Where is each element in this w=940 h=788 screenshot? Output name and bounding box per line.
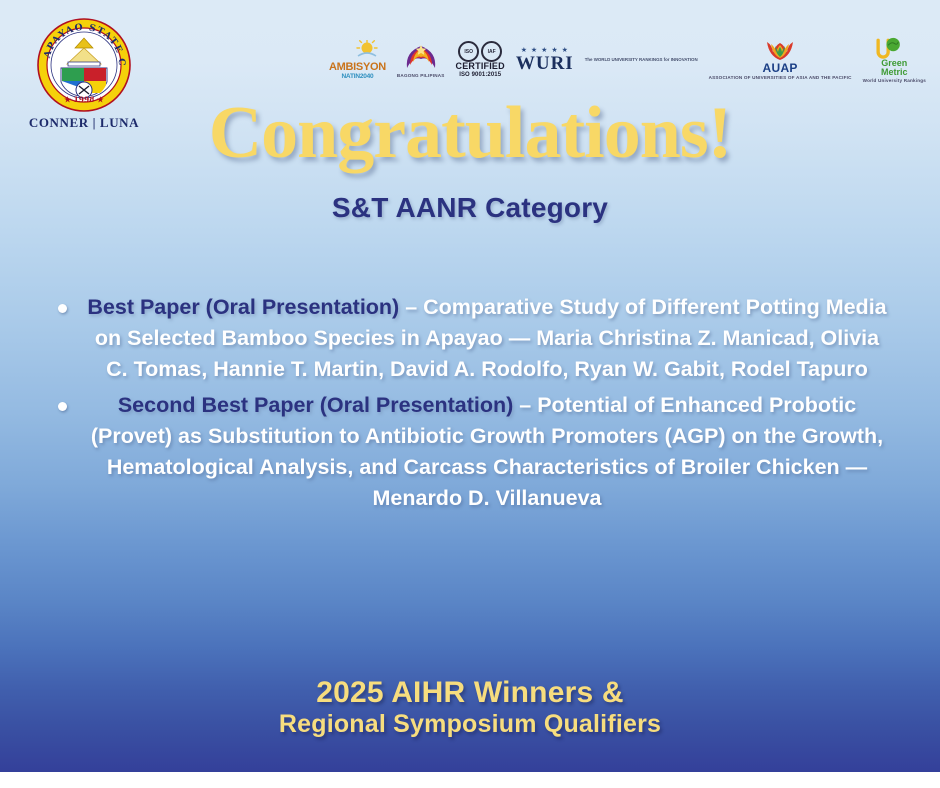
wuri-title: WURI: [516, 54, 574, 73]
award-authors: Menardo D. Villanueva: [372, 486, 601, 510]
bottom-white-band: [0, 772, 940, 788]
footer-line-1: 2025 AIHR Winners &: [0, 676, 940, 710]
greenmetric-caption: World University Rankings: [863, 78, 926, 83]
ui-greenmetric-logo: Green Metric World University Rankings: [863, 37, 926, 83]
headline-congratulations: Congratulations!: [0, 96, 940, 170]
award-text: Second Best Paper (Oral Presentation) – …: [82, 390, 892, 515]
award-entry: Second Best Paper (Oral Presentation) – …: [48, 390, 892, 515]
award-entry: Best Paper (Oral Presentation) – Compara…: [48, 292, 892, 386]
congratulations-poster: ★ 1998 ★ APAYAO STATE COLLEGE CONNER | L…: [0, 0, 940, 788]
iso-standard-label: ISO 9001:2015: [459, 72, 501, 79]
award-label: Second Best Paper (Oral Presentation): [118, 393, 513, 417]
footer-block: 2025 AIHR Winners & Regional Symposium Q…: [0, 676, 940, 738]
iso-certified-label: CERTIFIED: [456, 62, 505, 72]
wuri-logo: ★ ★ ★ ★ ★ WURI: [516, 37, 574, 83]
ambisyon-subtitle: NATIN2040: [341, 73, 373, 80]
award-text: Best Paper (Oral Presentation) – Compara…: [82, 292, 892, 386]
iso-certified-logo: ISO IAF CERTIFIED ISO 9001:2015: [456, 37, 505, 83]
auap-logo: AUAP ASSOCIATION OF UNIVERSITIES OF ASIA…: [709, 37, 852, 83]
awards-list: Best Paper (Oral Presentation) – Compara…: [48, 292, 892, 518]
ambisyon-natin-2040-logo: AMBISYON NATIN2040: [329, 37, 386, 83]
award-author-separator: —: [840, 455, 867, 479]
award-separator: –: [513, 393, 537, 417]
category-subtitle: S&T AANR Category: [0, 192, 940, 224]
ambisyon-title: AMBISYON: [329, 62, 386, 73]
accreditation-logo-strip: AMBISYON NATIN2040 BAGONG PILIPINAS ISO …: [329, 36, 926, 84]
bullet-icon: [58, 304, 67, 313]
bagong-pilipinas-logo: BAGONG PILIPINAS: [397, 37, 445, 83]
wuri-side-text: The WORLD UNIVERSITY RANKINGS for INNOVA…: [585, 37, 698, 83]
auap-caption: ASSOCIATION OF UNIVERSITIES OF ASIA AND …: [709, 75, 852, 80]
auap-title: AUAP: [763, 62, 798, 74]
award-label: Best Paper (Oral Presentation): [87, 295, 399, 319]
footer-line-2: Regional Symposium Qualifiers: [0, 710, 940, 738]
bullet-icon: [58, 402, 67, 411]
award-author-separator: —: [503, 326, 536, 350]
iso-mark-icon: ISO: [458, 41, 479, 62]
iaf-mark-icon: IAF: [481, 41, 502, 62]
greenmetric-title2: Metric: [881, 68, 908, 77]
bagong-pilipinas-caption: BAGONG PILIPINAS: [397, 73, 445, 78]
award-separator: –: [399, 295, 423, 319]
